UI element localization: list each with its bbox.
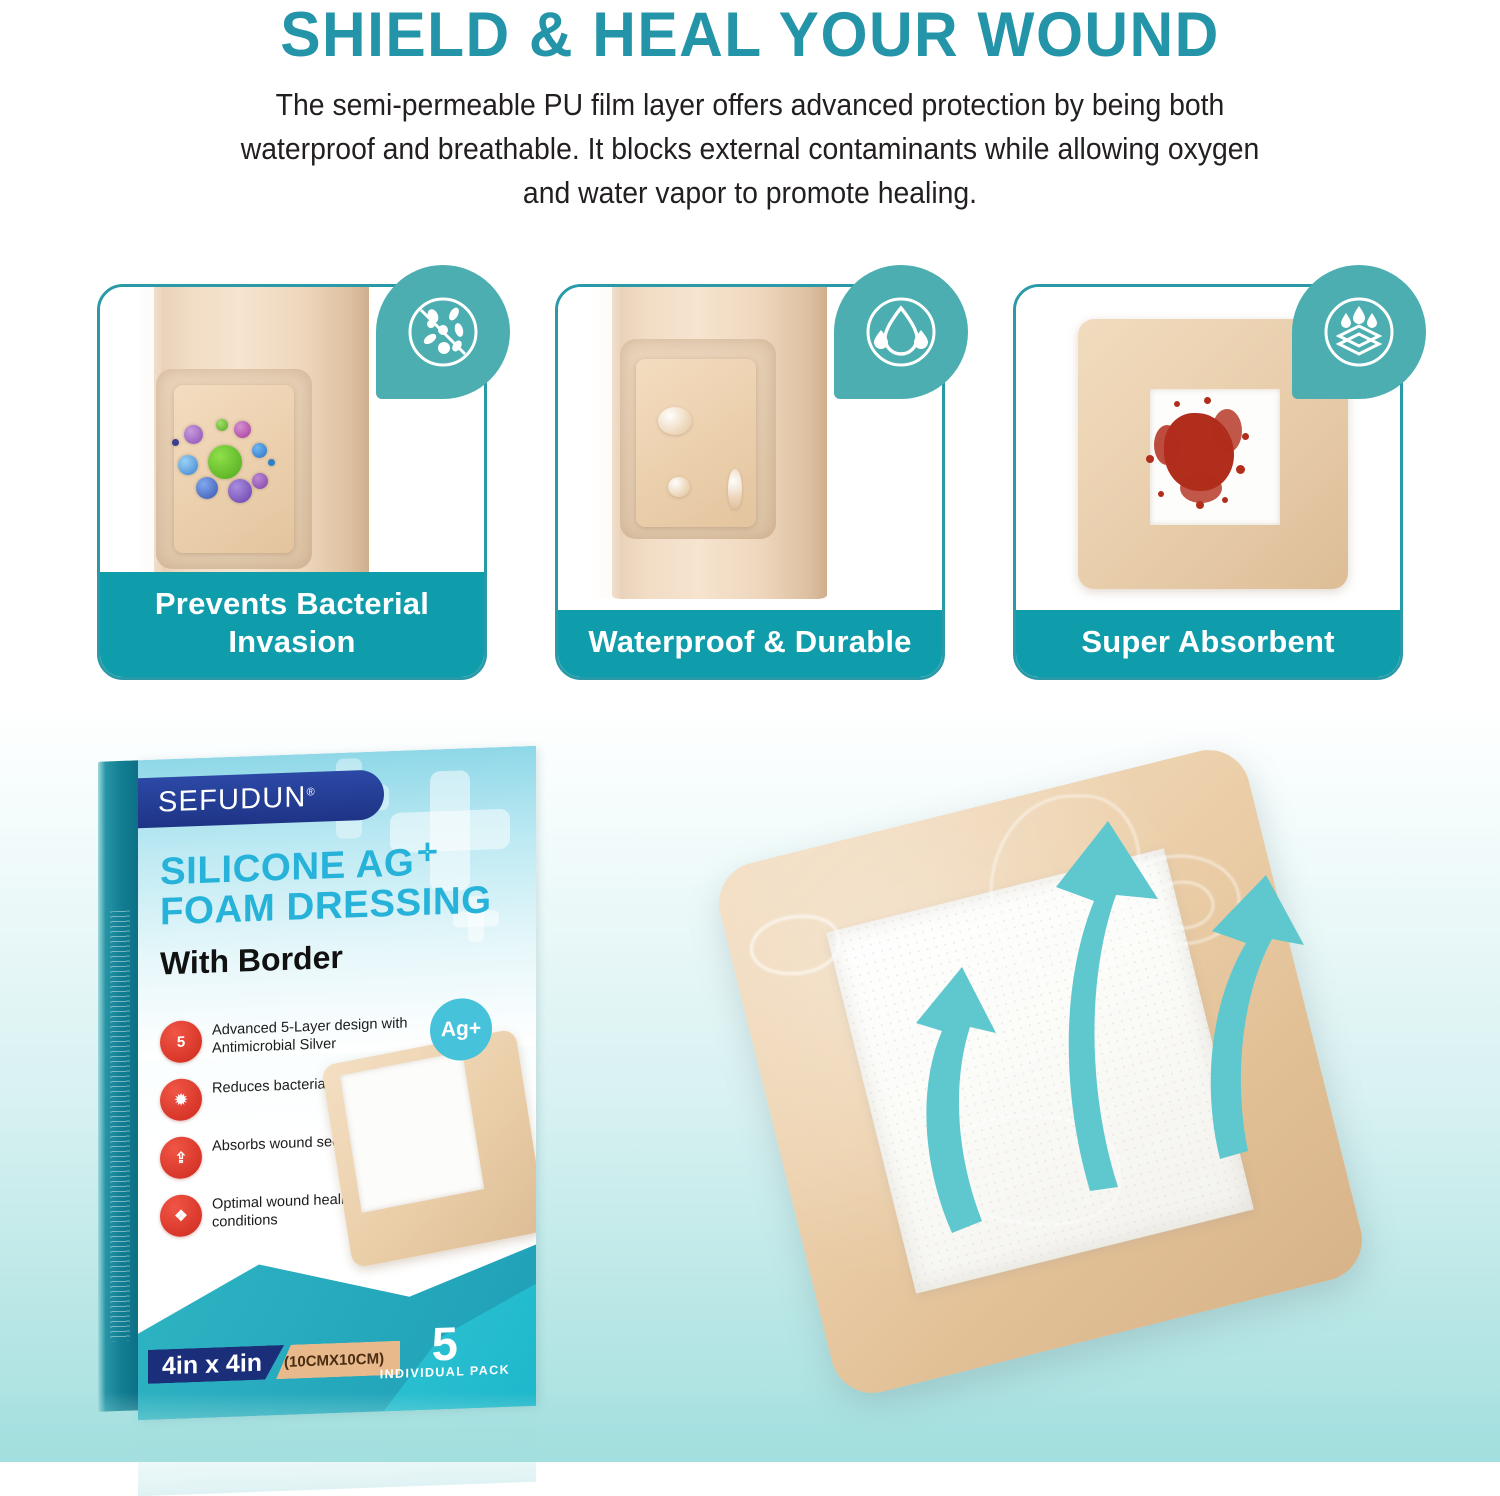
bottom-gradient-fade (0, 1392, 1500, 1462)
breathability-arrow (916, 967, 996, 1233)
blood-absorption-graphic (1150, 403, 1254, 513)
silver-plus-icon: ✛ (417, 841, 438, 866)
breathability-arrow (1056, 821, 1158, 1191)
product-showcase-section: SEFUDUN® SILICONE AG✛ FOAM DRESSING With… (0, 705, 1500, 1462)
feature-card-label: Super Absorbent (1016, 610, 1400, 677)
shield-bacteria-icon: ✹ (160, 1078, 202, 1122)
breathability-arrow (1211, 875, 1304, 1159)
feature-cards-row: Prevents Bacterial Invasion Waterproof &… (0, 284, 1500, 684)
water-droplet (728, 469, 742, 509)
hero-product-photo (690, 735, 1450, 1435)
pack-count-block: 5 INDIVIDUAL PACK (380, 1319, 510, 1381)
box-dressing-image (336, 1042, 532, 1255)
feature-card-bacterial[interactable]: Prevents Bacterial Invasion (97, 284, 487, 680)
box-product-title: SILICONE AG✛ FOAM DRESSING (160, 839, 492, 931)
absorb-arrow-icon: ⇪ (160, 1136, 202, 1180)
water-droplet (658, 407, 692, 435)
absorbent-layers-icon (1292, 265, 1426, 399)
box-product-subtitle: With Border (160, 939, 343, 983)
water-drop-icon (834, 265, 968, 399)
box-spine (98, 760, 140, 1412)
product-box[interactable]: SEFUDUN® SILICONE AG✛ FOAM DRESSING With… (98, 753, 638, 1453)
trademark-symbol: ® (307, 786, 316, 798)
bacteria-graphic (172, 415, 280, 511)
pack-count-number: 5 (380, 1319, 510, 1367)
feature-card-waterproof[interactable]: Waterproof & Durable (555, 284, 945, 680)
five-layer-icon: 5 (160, 1020, 202, 1064)
breathability-arrows (690, 735, 1450, 1435)
brand-banner: SEFUDUN® (138, 769, 384, 828)
hero-section: SHIELD & HEAL YOUR WOUND The semi-permea… (0, 0, 1500, 216)
water-droplet (668, 477, 690, 497)
feature-card-label: Waterproof & Durable (558, 610, 942, 677)
page-title: SHIELD & HEAL YOUR WOUND (30, 2, 1470, 68)
box-dressing-pad (340, 1052, 484, 1213)
healing-square-icon: ❖ (160, 1194, 202, 1238)
hero-subtitle: The semi-permeable PU film layer offers … (234, 84, 1266, 216)
no-bacteria-icon (376, 265, 510, 399)
brand-name: SEFUDUN® (158, 780, 316, 819)
spine-microtext (110, 911, 130, 1342)
box-front-face: SEFUDUN® SILICONE AG✛ FOAM DRESSING With… (138, 746, 536, 1421)
feature-card-label: Prevents Bacterial Invasion (100, 572, 484, 677)
feature-card-absorbent[interactable]: Super Absorbent (1013, 284, 1403, 680)
size-imperial: 4in x 4in (148, 1345, 284, 1384)
